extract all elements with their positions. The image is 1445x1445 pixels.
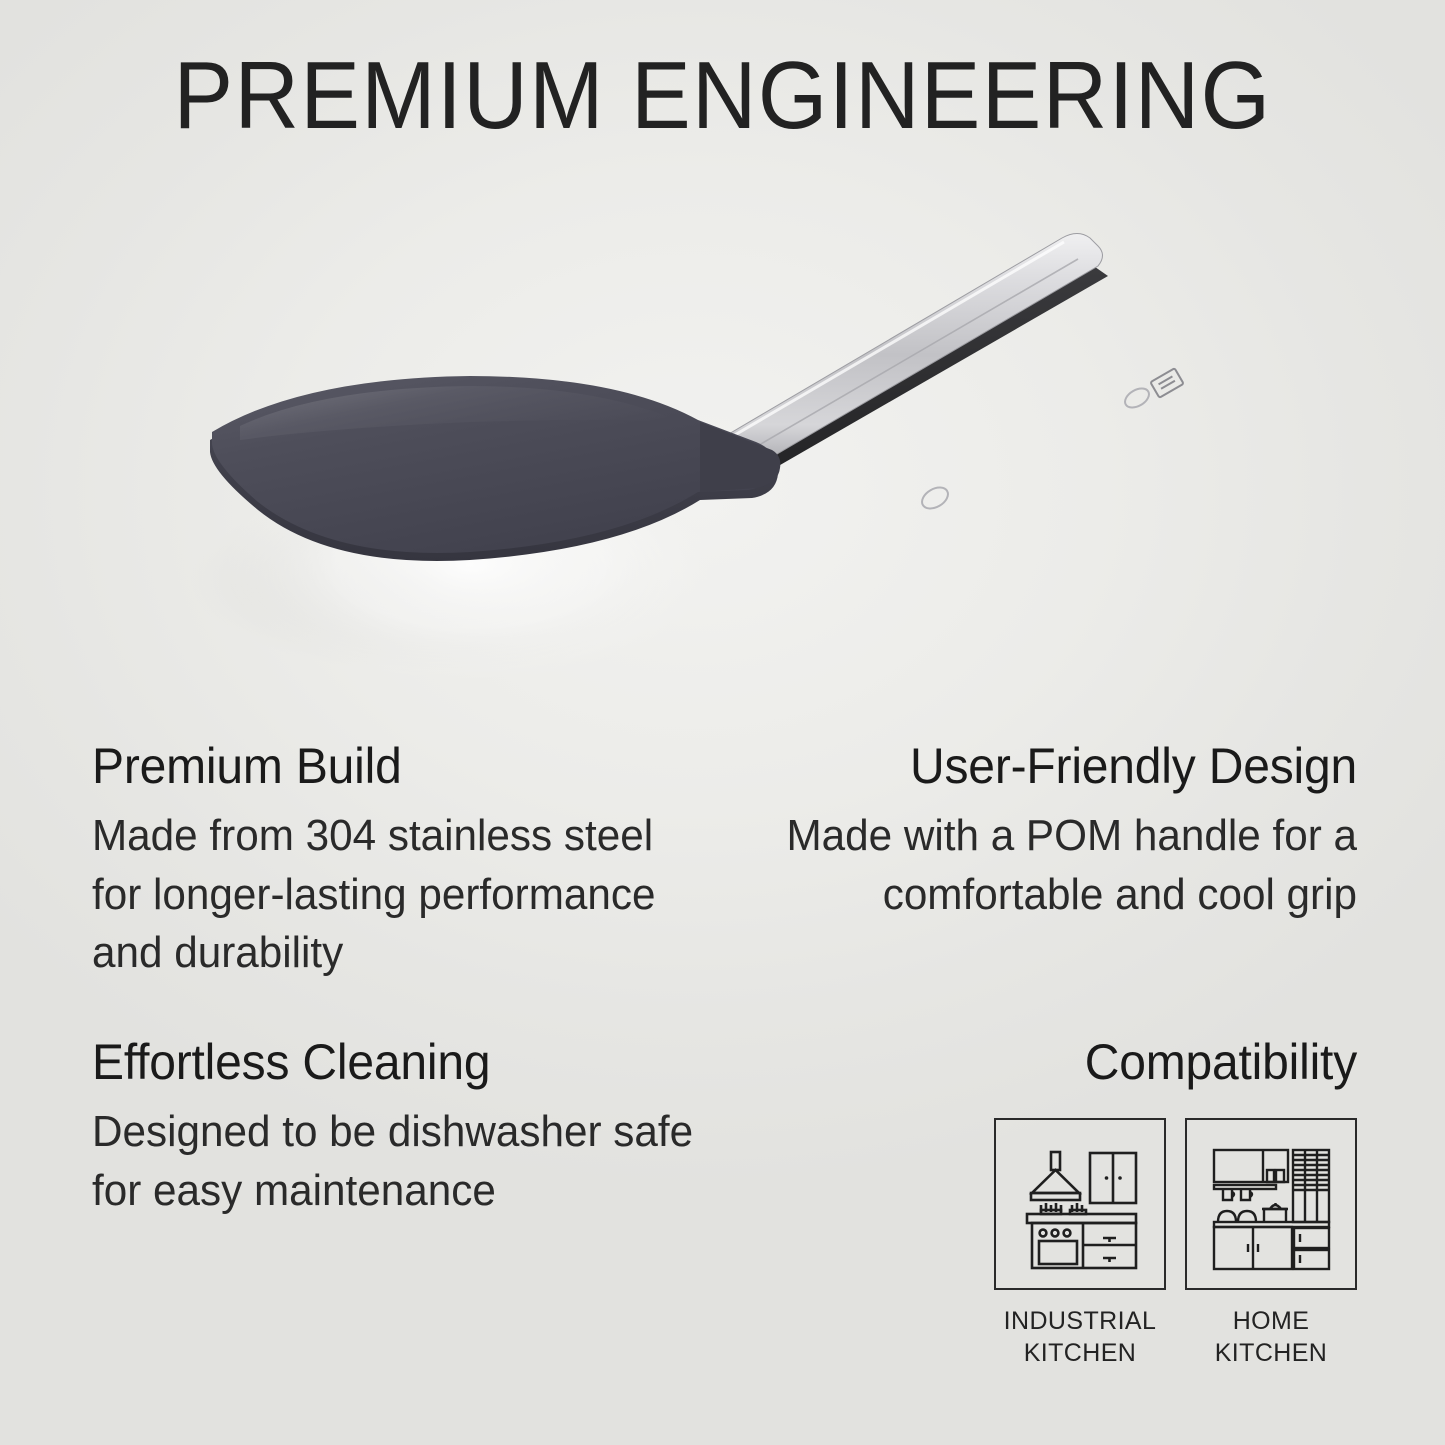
feature-heading: User-Friendly Design xyxy=(743,740,1357,793)
product-infographic: PREMIUM ENGINEERING xyxy=(0,0,1445,1445)
brand-emblem xyxy=(1150,368,1183,398)
home-kitchen-icon xyxy=(1201,1134,1341,1274)
home-kitchen-box xyxy=(1185,1118,1357,1290)
compatibility-item-industrial-kitchen: INDUSTRIAL KITCHEN xyxy=(994,1118,1166,1369)
product-handle xyxy=(722,234,1184,513)
industrial-kitchen-box xyxy=(994,1118,1166,1290)
feature-body: Designed to be dishwasher safe for easy … xyxy=(92,1103,706,1220)
feature-premium-build: Premium Build Made from 304 stainless st… xyxy=(92,740,732,983)
handle-dimple xyxy=(918,483,951,513)
feature-body: Made with a POM handle for a comfortable… xyxy=(743,807,1357,924)
compatibility-icon-group: INDUSTRIAL KITCHEN xyxy=(994,1118,1357,1369)
page-title: PREMIUM ENGINEERING xyxy=(51,48,1395,144)
feature-compatibility: Compatibility xyxy=(937,1036,1357,1089)
feature-user-friendly-design: User-Friendly Design Made with a POM han… xyxy=(717,740,1357,924)
feature-heading: Compatibility xyxy=(954,1036,1357,1089)
compatibility-item-home-kitchen: HOME KITCHEN xyxy=(1185,1118,1357,1369)
compatibility-label: INDUSTRIAL KITCHEN xyxy=(1004,1306,1157,1369)
feature-heading: Premium Build xyxy=(92,740,706,793)
handle-end-dimple xyxy=(1122,385,1153,412)
product-image xyxy=(0,150,1445,720)
industrial-kitchen-icon xyxy=(1010,1134,1150,1274)
feature-body: Made from 304 stainless steel for longer… xyxy=(92,807,706,983)
feature-heading: Effortless Cleaning xyxy=(92,1036,706,1089)
feature-effortless-cleaning: Effortless Cleaning Designed to be dishw… xyxy=(92,1036,732,1220)
compatibility-label: HOME KITCHEN xyxy=(1215,1306,1328,1369)
